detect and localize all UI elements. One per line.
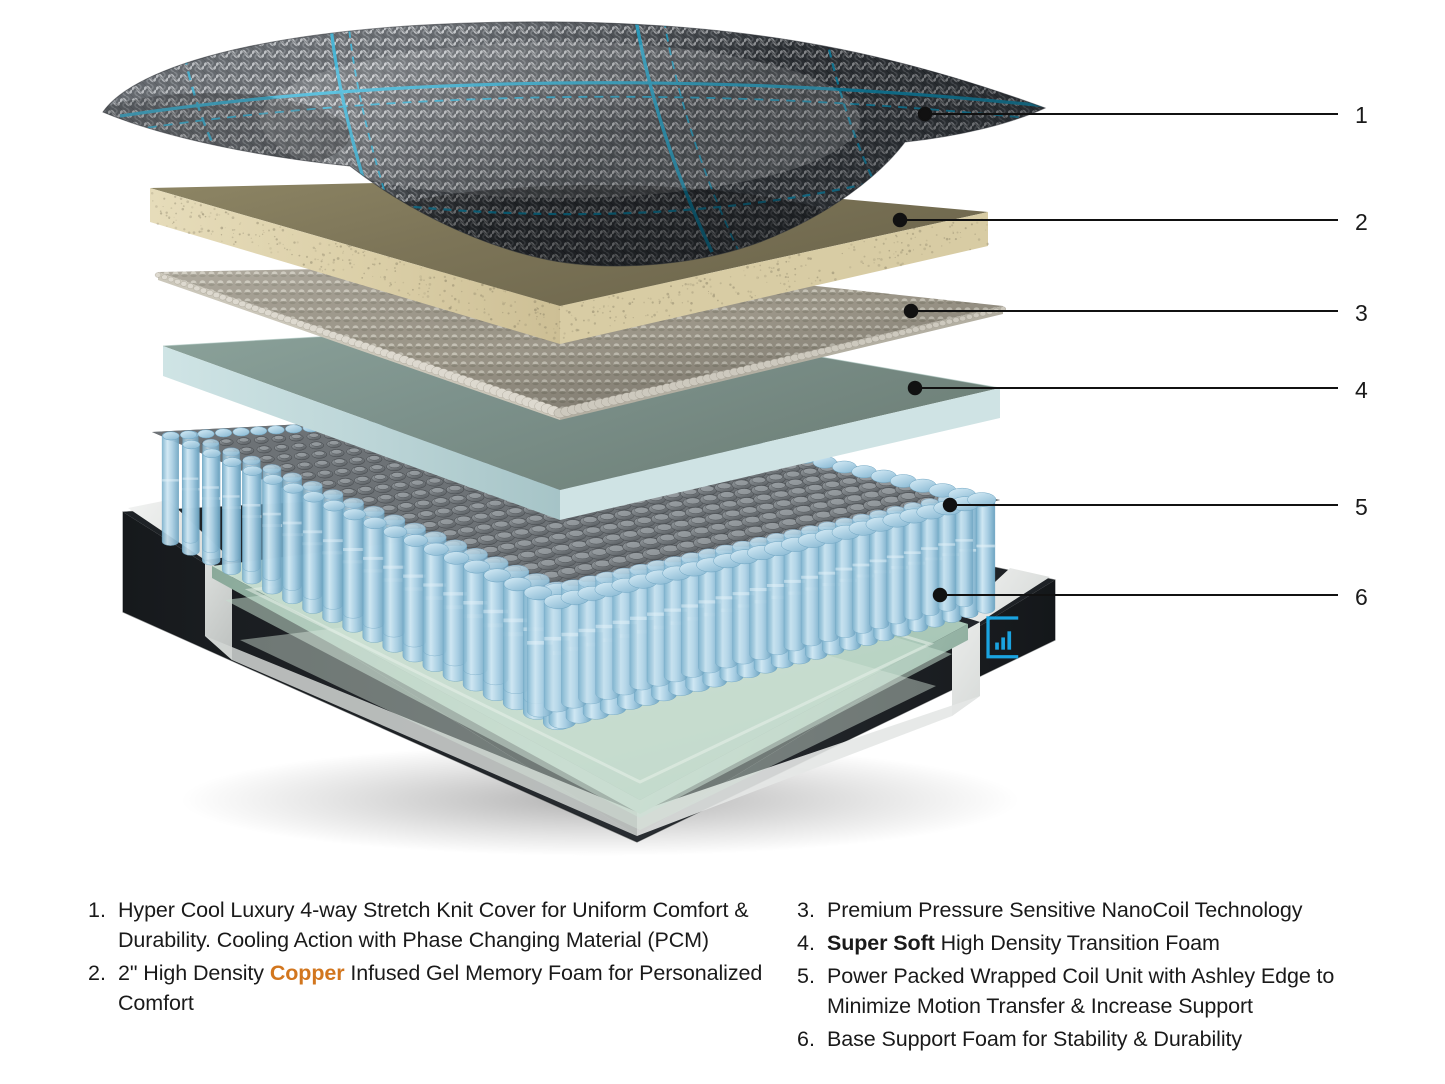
caption-text: Power Packed Wrapped Coil Unit with Ashl… <box>827 961 1397 1021</box>
caption-column-right: 3.Premium Pressure Sensitive NanoCoil Te… <box>797 895 1397 1057</box>
caption-item-2: 2.2" High Density Copper Infused Gel Mem… <box>88 958 788 1018</box>
caption-segment: Base Support Foam for Stability & Durabi… <box>827 1027 1242 1051</box>
caption-item-5: 5.Power Packed Wrapped Coil Unit with As… <box>797 961 1397 1021</box>
caption-item-3: 3.Premium Pressure Sensitive NanoCoil Te… <box>797 895 1397 925</box>
caption-text: Hyper Cool Luxury 4-way Stretch Knit Cov… <box>118 895 788 955</box>
caption-block: 1.Hyper Cool Luxury 4-way Stretch Knit C… <box>0 895 1445 1084</box>
caption-item-4: 4.Super Soft High Density Transition Foa… <box>797 928 1397 958</box>
callout-number-2: 2 <box>1355 211 1368 234</box>
caption-segment: Premium Pressure Sensitive NanoCoil Tech… <box>827 898 1302 922</box>
caption-marker: 5. <box>797 961 827 991</box>
caption-segment: Hyper Cool Luxury 4-way Stretch Knit Cov… <box>118 898 748 952</box>
caption-segment: Copper <box>270 961 345 985</box>
caption-text: 2" High Density Copper Infused Gel Memor… <box>118 958 788 1018</box>
callout-number-3: 3 <box>1355 302 1368 325</box>
caption-item-1: 1.Hyper Cool Luxury 4-way Stretch Knit C… <box>88 895 788 955</box>
mattress-exploded-diagram <box>0 0 1445 890</box>
caption-text: Base Support Foam for Stability & Durabi… <box>827 1024 1397 1054</box>
caption-segment: 2" High Density <box>118 961 270 985</box>
caption-segment: Power Packed Wrapped Coil Unit with Ashl… <box>827 964 1334 1018</box>
caption-column-left: 1.Hyper Cool Luxury 4-way Stretch Knit C… <box>88 895 788 1021</box>
callout-number-5: 5 <box>1355 496 1368 519</box>
caption-marker: 2. <box>88 958 118 988</box>
caption-segment: Super Soft <box>827 931 935 955</box>
callout-number-4: 4 <box>1355 379 1368 402</box>
callout-number-6: 6 <box>1355 586 1368 609</box>
caption-text: Premium Pressure Sensitive NanoCoil Tech… <box>827 895 1397 925</box>
caption-text: Super Soft High Density Transition Foam <box>827 928 1397 958</box>
caption-marker: 4. <box>797 928 827 958</box>
callout-number-1: 1 <box>1355 104 1368 127</box>
caption-item-6: 6.Base Support Foam for Stability & Dura… <box>797 1024 1397 1054</box>
caption-marker: 6. <box>797 1024 827 1054</box>
caption-marker: 3. <box>797 895 827 925</box>
caption-segment: High Density Transition Foam <box>935 931 1220 955</box>
caption-marker: 1. <box>88 895 118 925</box>
layer-1-knit-cover <box>70 10 1080 305</box>
